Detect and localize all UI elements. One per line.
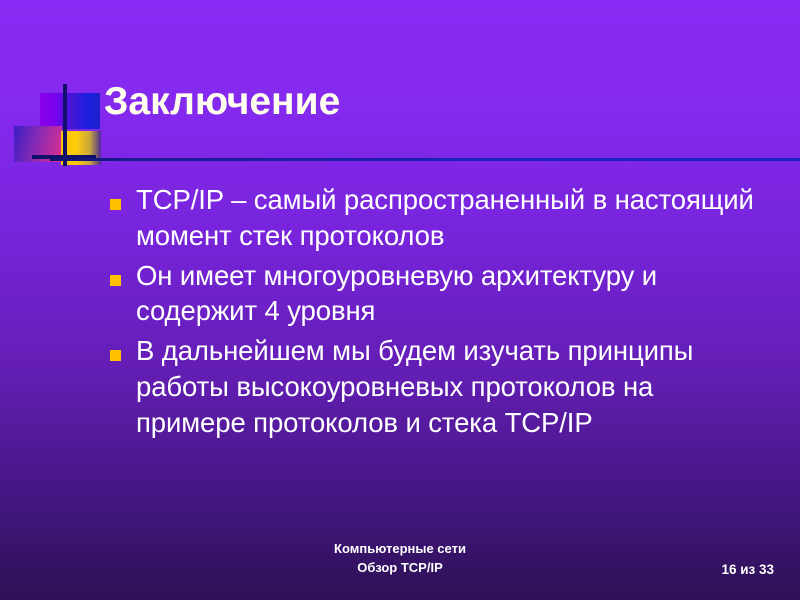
bullet-square-icon <box>110 199 121 210</box>
bullet-text: Он имеет многоуровневую архитектуру и со… <box>136 258 770 330</box>
bullet-square-icon <box>110 350 121 361</box>
bullet-text: В дальнейшем мы будем изучать принципы р… <box>136 333 770 440</box>
list-item: В дальнейшем мы будем изучать принципы р… <box>110 333 770 440</box>
decorative-logo-icon <box>14 84 96 166</box>
bullet-list: TCP/IP – самый распространенный в настоя… <box>110 182 770 444</box>
list-item: Он имеет многоуровневую архитектуру и со… <box>110 258 770 330</box>
list-item: TCP/IP – самый распространенный в настоя… <box>110 182 770 254</box>
footer-section-name: Обзор TCP/IP <box>0 559 800 578</box>
bullet-text: TCP/IP – самый распространенный в настоя… <box>136 182 770 254</box>
page-number: 16 из 33 <box>721 562 774 577</box>
logo-square-blue <box>70 93 100 129</box>
slide-footer: Компьютерные сети Обзор TCP/IP <box>0 540 800 578</box>
logo-vertical-bar <box>63 84 67 166</box>
title-divider <box>50 158 800 161</box>
bullet-square-icon <box>110 275 121 286</box>
footer-course-name: Компьютерные сети <box>0 540 800 559</box>
slide-title: Заключение <box>104 82 340 123</box>
slide: Заключение TCP/IP – самый распространенн… <box>0 0 800 600</box>
